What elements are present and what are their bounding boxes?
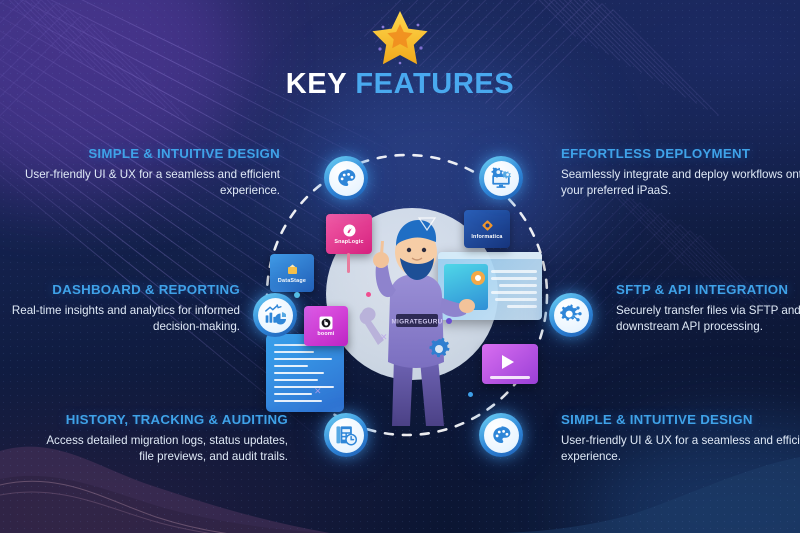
badge-inner <box>554 298 589 333</box>
spark-dot <box>468 392 473 397</box>
browser-line <box>491 277 537 280</box>
feature-description: Real-time insights and analytics for inf… <box>0 303 240 336</box>
feature-title: DASHBOARD & REPORTING <box>0 282 240 298</box>
feature-title: SIMPLE & INTUITIVE DESIGN <box>561 412 800 428</box>
page-title: KEY FEATURES <box>0 70 800 99</box>
play-icon <box>502 355 514 369</box>
feature-dashboard-reporting: DASHBOARD & REPORTING Real-time insights… <box>0 282 240 336</box>
platform-card-label: DataStage <box>278 278 306 284</box>
feature-icon-badge-dashboard-reporting[interactable] <box>253 293 297 337</box>
informatica-mark <box>480 218 495 233</box>
platform-card-label: boomi <box>317 331 334 337</box>
gold-star-icon <box>369 8 431 66</box>
badge-inner <box>329 418 364 453</box>
shirt-text: MIGRATEGURU <box>391 319 442 326</box>
video-player-panel <box>482 344 538 384</box>
star-icon-wrap <box>0 6 800 68</box>
infographic-canvas: KEY FEATURES <box>0 0 800 533</box>
feature-title: EFFORTLESS DEPLOYMENT <box>561 146 800 162</box>
browser-line <box>507 305 537 308</box>
platform-card-boomi: boomi <box>304 306 348 346</box>
badge-inner <box>329 161 364 196</box>
palette-icon <box>491 425 512 446</box>
title-word-features: FEATURES <box>355 68 514 100</box>
feature-icon-badge-simple-intuitive-design-top[interactable] <box>324 156 368 200</box>
snaplogic-mark <box>342 223 357 238</box>
spark-dot <box>294 292 300 298</box>
snaplogic-card-stick <box>347 253 350 273</box>
title-word-key: KEY <box>286 68 347 100</box>
gear-network-icon <box>560 304 582 326</box>
monitor-gears-icon <box>490 167 512 189</box>
feature-title: SIMPLE & INTUITIVE DESIGN <box>25 146 280 162</box>
engineer-character: MIGRATEGURU <box>356 210 476 428</box>
feature-simple-intuitive-design-bottom: SIMPLE & INTUITIVE DESIGN User-friendly … <box>561 412 800 466</box>
x-decoration: ✕ <box>314 386 322 397</box>
feature-icon-badge-history-tracking-auditing[interactable] <box>324 413 368 457</box>
feature-icon-badge-effortless-deployment[interactable] <box>479 156 523 200</box>
datastage-mark <box>285 262 300 277</box>
feature-icon-badge-simple-intuitive-design-bottom[interactable] <box>479 413 523 457</box>
feature-icon-badge-sftp-api-integration[interactable] <box>549 293 593 337</box>
badge-inner <box>258 298 293 333</box>
feature-simple-intuitive-design-top: SIMPLE & INTUITIVE DESIGN User-friendly … <box>25 146 280 200</box>
video-progress-bar <box>490 376 530 379</box>
feature-sftp-api-integration: SFTP & API INTEGRATION Securely transfer… <box>616 282 800 336</box>
feature-description: Securely transfer files via SFTP and en … <box>616 303 800 336</box>
spark-dot <box>366 292 371 297</box>
feature-description: Seamlessly integrate and deploy workflow… <box>561 167 800 200</box>
palette-icon <box>336 168 357 189</box>
header: KEY FEATURES <box>0 6 800 99</box>
feature-effortless-deployment: EFFORTLESS DEPLOYMENT Seamlessly integra… <box>561 146 800 200</box>
gear-decoration <box>426 336 452 362</box>
triangle-decoration <box>418 216 436 232</box>
feature-history-tracking-auditing: HISTORY, TRACKING & AUDITING Access deta… <box>33 412 288 466</box>
platform-card-datastage: DataStage <box>270 254 314 292</box>
badge-inner <box>484 161 519 196</box>
badge-inner <box>484 418 519 453</box>
boomi-mark <box>319 315 334 330</box>
x-decoration: ✕ <box>380 332 388 343</box>
browser-line <box>491 270 537 273</box>
feature-description: User-friendly UI & UX for a seamless and… <box>25 167 280 200</box>
spark-dot <box>446 318 452 324</box>
bar-pie-chart-icon <box>264 304 286 326</box>
feature-description: User-friendly UI & UX for a seamless and… <box>561 433 800 466</box>
platform-card-label: Informatica <box>471 234 502 240</box>
feature-title: SFTP & API INTEGRATION <box>616 282 800 298</box>
browser-line <box>499 284 537 287</box>
feature-title: HISTORY, TRACKING & AUDITING <box>33 412 288 428</box>
document-clock-icon <box>335 424 357 446</box>
feature-description: Access detailed migration logs, status u… <box>33 433 288 466</box>
browser-line <box>495 298 537 301</box>
central-illustration: SnapLogic DataStage Informatica <box>268 196 540 428</box>
browser-line <box>491 291 537 294</box>
